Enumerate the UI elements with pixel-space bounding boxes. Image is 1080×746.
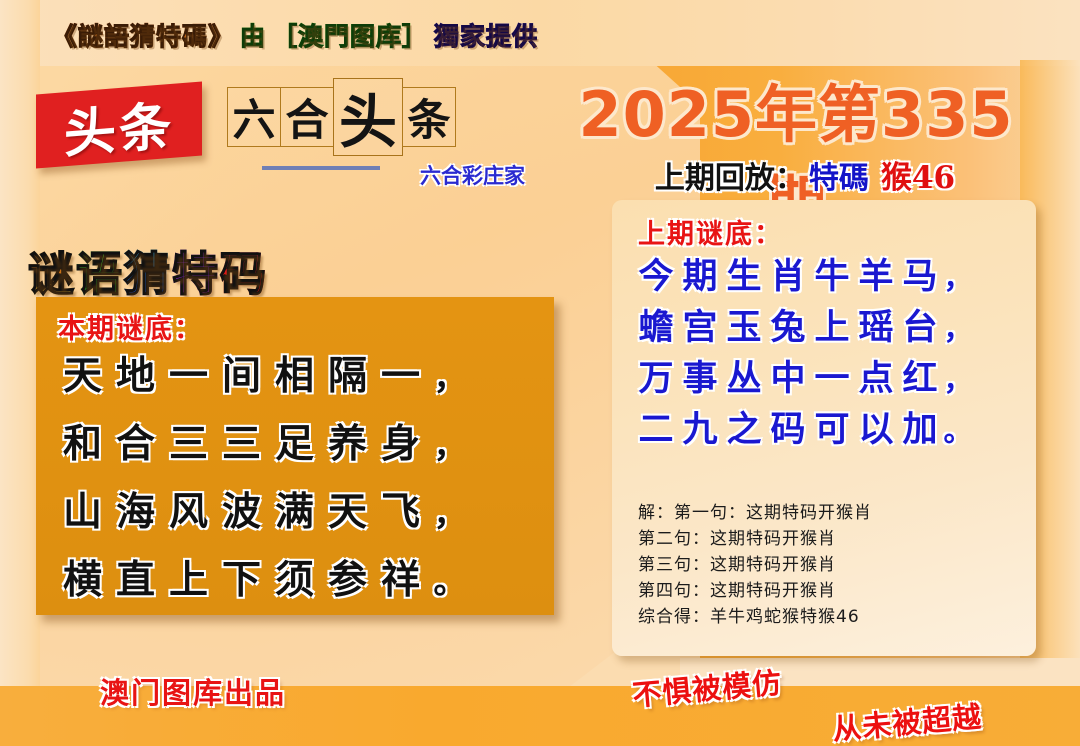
verse-char: 地 (109, 345, 162, 401)
recap-label: 上期回放： (655, 153, 805, 197)
verse-char: 上 (810, 299, 854, 350)
logo-underline-rule (262, 166, 380, 170)
verse-line: 横直上下须参祥。 (56, 549, 538, 617)
verse-char: 台 (898, 299, 942, 350)
verse-char: 点 (854, 350, 898, 401)
verse-char: 二 (634, 401, 678, 452)
current-riddle-panel: 本期谜底： 天地一间相隔一，和合三三足养身，山海风波满天飞，横直上下须参祥。 (36, 297, 554, 615)
verse-char: 上 (162, 549, 215, 605)
verse-char: 蟾 (634, 299, 678, 350)
verse-char: 身 (374, 413, 427, 469)
current-riddle-lines: 天地一间相隔一，和合三三足养身，山海风波满天飞，横直上下须参祥。 (56, 345, 538, 617)
explanation-row: 解：第一句：这期特码开猴肖 (638, 500, 1030, 526)
background-left-edge (0, 0, 40, 746)
verse-line: 万事丛中一点红， (634, 350, 1034, 401)
logo-boxed-chars: 六 合 头 条 (228, 78, 456, 156)
verse-char: 养 (321, 413, 374, 469)
verse-char: 红 (898, 350, 942, 401)
verse-punctuation: 。 (942, 408, 974, 450)
verse-char: 合 (109, 413, 162, 469)
rainbow-char: 特 (172, 247, 220, 301)
verse-char: 足 (268, 413, 321, 469)
recap-line: 上期回放： 特碼 猴46 (560, 152, 1050, 197)
verse-char: 瑶 (854, 299, 898, 350)
verse-char: 万 (634, 350, 678, 401)
verse-punctuation: ， (942, 357, 974, 399)
verse-char: 海 (109, 481, 162, 537)
footer-producer: 澳门图库出品 (100, 670, 286, 712)
verse-char: 风 (162, 481, 215, 537)
header-source: ［澳門图库］ (272, 17, 428, 53)
verse-char: 一 (374, 345, 427, 401)
verse-char: 生 (722, 248, 766, 299)
verse-punctuation: ， (427, 419, 473, 467)
logo-box-char: 合 (280, 87, 334, 147)
previous-riddle-heading: 上期谜底： (638, 212, 783, 251)
verse-char: 和 (56, 413, 109, 469)
previous-riddle-panel: 上期谜底： 今期生肖牛羊马，蟾宫玉兔上瑶台，万事丛中一点红，二九之码可以加。 解… (612, 200, 1036, 656)
verse-char: 相 (268, 345, 321, 401)
verse-line: 二九之码可以加。 (634, 401, 1034, 452)
explanation-row: 第三句：这期特码开猴肖 (638, 552, 1030, 578)
verse-char: 参 (321, 549, 374, 605)
logo-badge-label: 头条 (36, 81, 202, 168)
verse-char: 满 (268, 481, 321, 537)
logo-tagline: 六合彩庄家 (420, 160, 525, 190)
verse-char: 宫 (678, 299, 722, 350)
verse-char: 三 (162, 413, 215, 469)
logo-box-char: 条 (402, 87, 456, 147)
verse-punctuation: ， (427, 487, 473, 535)
verse-char: 可 (810, 401, 854, 452)
verse-char: 事 (678, 350, 722, 401)
current-riddle-heading: 本期谜底： (58, 307, 203, 346)
verse-char: 祥 (374, 549, 427, 605)
verse-char: 隔 (321, 345, 374, 401)
poster-canvas: 《謎語猜特碼》 由 ［澳門图库］ 獨家提供 头条 六 合 头 条 六合彩庄家 2… (0, 0, 1080, 746)
verse-char: 飞 (374, 481, 427, 537)
verse-line: 山海风波满天飞， (56, 481, 538, 549)
verse-char: 一 (162, 345, 215, 401)
verse-char: 一 (810, 350, 854, 401)
verse-char: 中 (766, 350, 810, 401)
verse-char: 马 (898, 248, 942, 299)
header-credit-line: 《謎語猜特碼》 由 ［澳門图库］ 獨家提供 (52, 18, 538, 52)
rainbow-char: 谜 (28, 247, 76, 301)
verse-punctuation: 。 (427, 555, 473, 603)
verse-char: 之 (722, 401, 766, 452)
logo-box-char: 头 (333, 78, 403, 156)
rainbow-char: 码 (220, 247, 268, 301)
riddle-rainbow-title: 谜语猜特码 (28, 238, 268, 304)
rainbow-char: 猜 (124, 247, 172, 301)
verse-char: 期 (678, 248, 722, 299)
verse-punctuation: ， (942, 255, 974, 297)
verse-punctuation: ， (427, 351, 473, 399)
verse-char: 山 (56, 481, 109, 537)
recap-special-label: 特碼 (809, 153, 869, 197)
explanation-row: 第二句：这期特码开猴肖 (638, 526, 1030, 552)
verse-char: 直 (109, 549, 162, 605)
verse-char: 羊 (854, 248, 898, 299)
verse-char: 今 (634, 248, 678, 299)
verse-line: 今期生肖牛羊马， (634, 248, 1034, 299)
explanation-row: 综合得：羊牛鸡蛇猴特猴46 (638, 604, 1030, 630)
verse-char: 下 (215, 549, 268, 605)
verse-char: 三 (215, 413, 268, 469)
verse-char: 九 (678, 401, 722, 452)
verse-char: 天 (321, 481, 374, 537)
verse-char: 以 (854, 401, 898, 452)
rainbow-char: 语 (76, 247, 124, 301)
header-by: 由 (240, 17, 266, 53)
verse-char: 丛 (722, 350, 766, 401)
verse-char: 兔 (766, 299, 810, 350)
verse-line: 天地一间相隔一， (56, 345, 538, 413)
logo-box-char: 六 (227, 87, 281, 147)
verse-char: 肖 (766, 248, 810, 299)
explanation-block: 解：第一句：这期特码开猴肖第二句：这期特码开猴肖第三句：这期特码开猴肖第四句：这… (638, 500, 1030, 630)
recap-result: 猴46 (881, 152, 955, 197)
header-title: 《謎語猜特碼》 (52, 17, 234, 53)
verse-char: 牛 (810, 248, 854, 299)
verse-char: 加 (898, 401, 942, 452)
header-exclusive: 獨家提供 (434, 17, 538, 53)
explanation-row: 第四句：这期特码开猴肖 (638, 578, 1030, 604)
previous-riddle-lines: 今期生肖牛羊马，蟾宫玉兔上瑶台，万事丛中一点红，二九之码可以加。 (634, 248, 1034, 452)
verse-char: 须 (268, 549, 321, 605)
verse-line: 和合三三足养身， (56, 413, 538, 481)
verse-char: 横 (56, 549, 109, 605)
verse-char: 码 (766, 401, 810, 452)
verse-char: 玉 (722, 299, 766, 350)
verse-char: 波 (215, 481, 268, 537)
verse-punctuation: ， (942, 306, 974, 348)
verse-char: 间 (215, 345, 268, 401)
verse-char: 天 (56, 345, 109, 401)
verse-line: 蟾宫玉兔上瑶台， (634, 299, 1034, 350)
